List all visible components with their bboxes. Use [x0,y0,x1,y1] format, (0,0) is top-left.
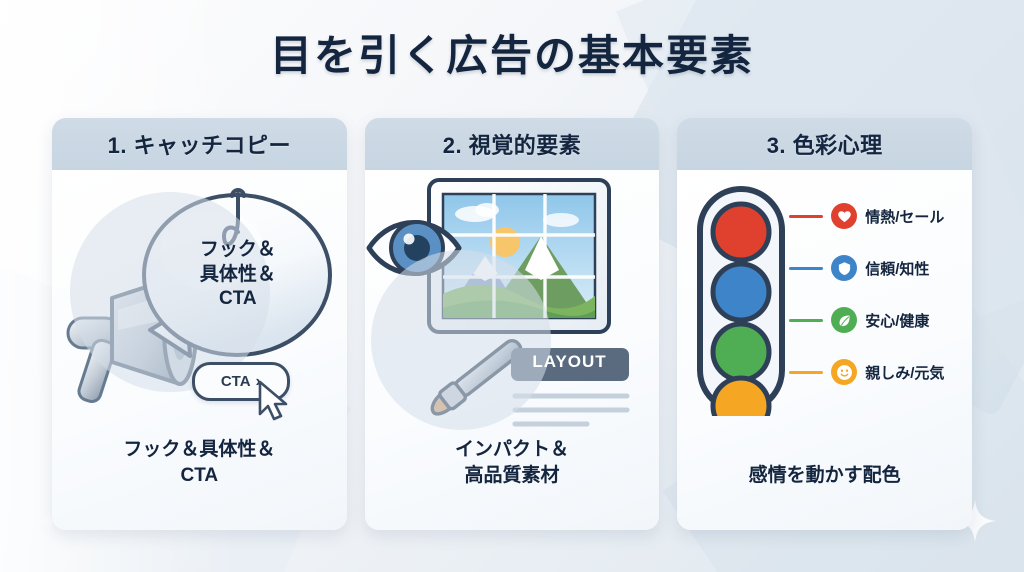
connector-line [789,319,823,322]
connector-line [789,371,823,374]
mouse-cursor-icon [256,380,290,422]
legend-label: 安心/健康 [865,310,929,331]
bubble-line-3: CTA [147,287,329,312]
traffic-light-capsule [695,184,787,416]
leaf-icon [831,307,857,333]
connector-line [789,215,823,218]
connector-line [789,267,823,270]
color-dot-orange [713,378,769,416]
caption-line-1: インパクト＆ [381,437,644,462]
text-lines [515,396,627,424]
caption-line-1: 感情を動かす配色 [693,463,956,488]
illustration-color-legend: 情熱/セール 信頼/知性 [677,170,972,435]
bubble-line-2: 具体性＆ [147,263,329,288]
caption-line-2: 高品質素材 [381,463,644,488]
color-dot-green [713,324,769,380]
illustration-megaphone: . フック＆ 具体性＆ CTA CTA › [52,170,347,435]
card-color-psychology[interactable]: 3. 色彩心理 [677,118,972,530]
legend-row: 親しみ/元気 [789,346,969,398]
card-header-title: 2. 視覚的要素 [365,118,660,170]
page-title: 目を引く広告の基本要素 [0,22,1024,83]
color-dot-red [713,204,769,260]
infographic-canvas: 目を引く広告の基本要素 1. キャッチコピー [0,0,1024,572]
illustration-visual: LAYOUT [365,170,660,435]
cards-row: 1. キャッチコピー [52,118,972,530]
legend-label: 情熱/セール [865,206,944,227]
card-caption: 感情を動かす配色 [677,463,972,488]
bubble-line-1: フック＆ [147,238,329,263]
card-body: LAYOUT インパクト＆ 高品質素材 [365,170,660,530]
layout-badge-label: LAYOUT [511,352,629,372]
card-caption: インパクト＆ 高品質素材 [365,437,660,488]
legend-label: 信頼/知性 [865,258,929,279]
color-legend-list: 情熱/セール 信頼/知性 [789,190,969,398]
smiley-icon [831,359,857,385]
card-visual-elements[interactable]: 2. 視覚的要素 [365,118,660,530]
legend-row: 情熱/セール [789,190,969,242]
legend-row: 安心/健康 [789,294,969,346]
card-header-title: 1. キャッチコピー [52,118,347,170]
legend-row: 信頼/知性 [789,242,969,294]
caption-line-2: CTA [68,463,331,488]
heart-icon [831,203,857,229]
decorative-halo [371,250,551,430]
card-body: 情熱/セール 信頼/知性 [677,170,972,530]
card-catch-copy[interactable]: 1. キャッチコピー [52,118,347,530]
card-caption: フック＆具体性＆ CTA [52,437,347,488]
cta-button-label: CTA [221,373,251,390]
legend-label: 親しみ/元気 [865,362,944,383]
card-body: . フック＆ 具体性＆ CTA CTA › [52,170,347,530]
shield-icon [831,255,857,281]
caption-line-1: フック＆具体性＆ [68,437,331,462]
color-dot-blue [713,264,769,320]
card-header-title: 3. 色彩心理 [677,118,972,170]
